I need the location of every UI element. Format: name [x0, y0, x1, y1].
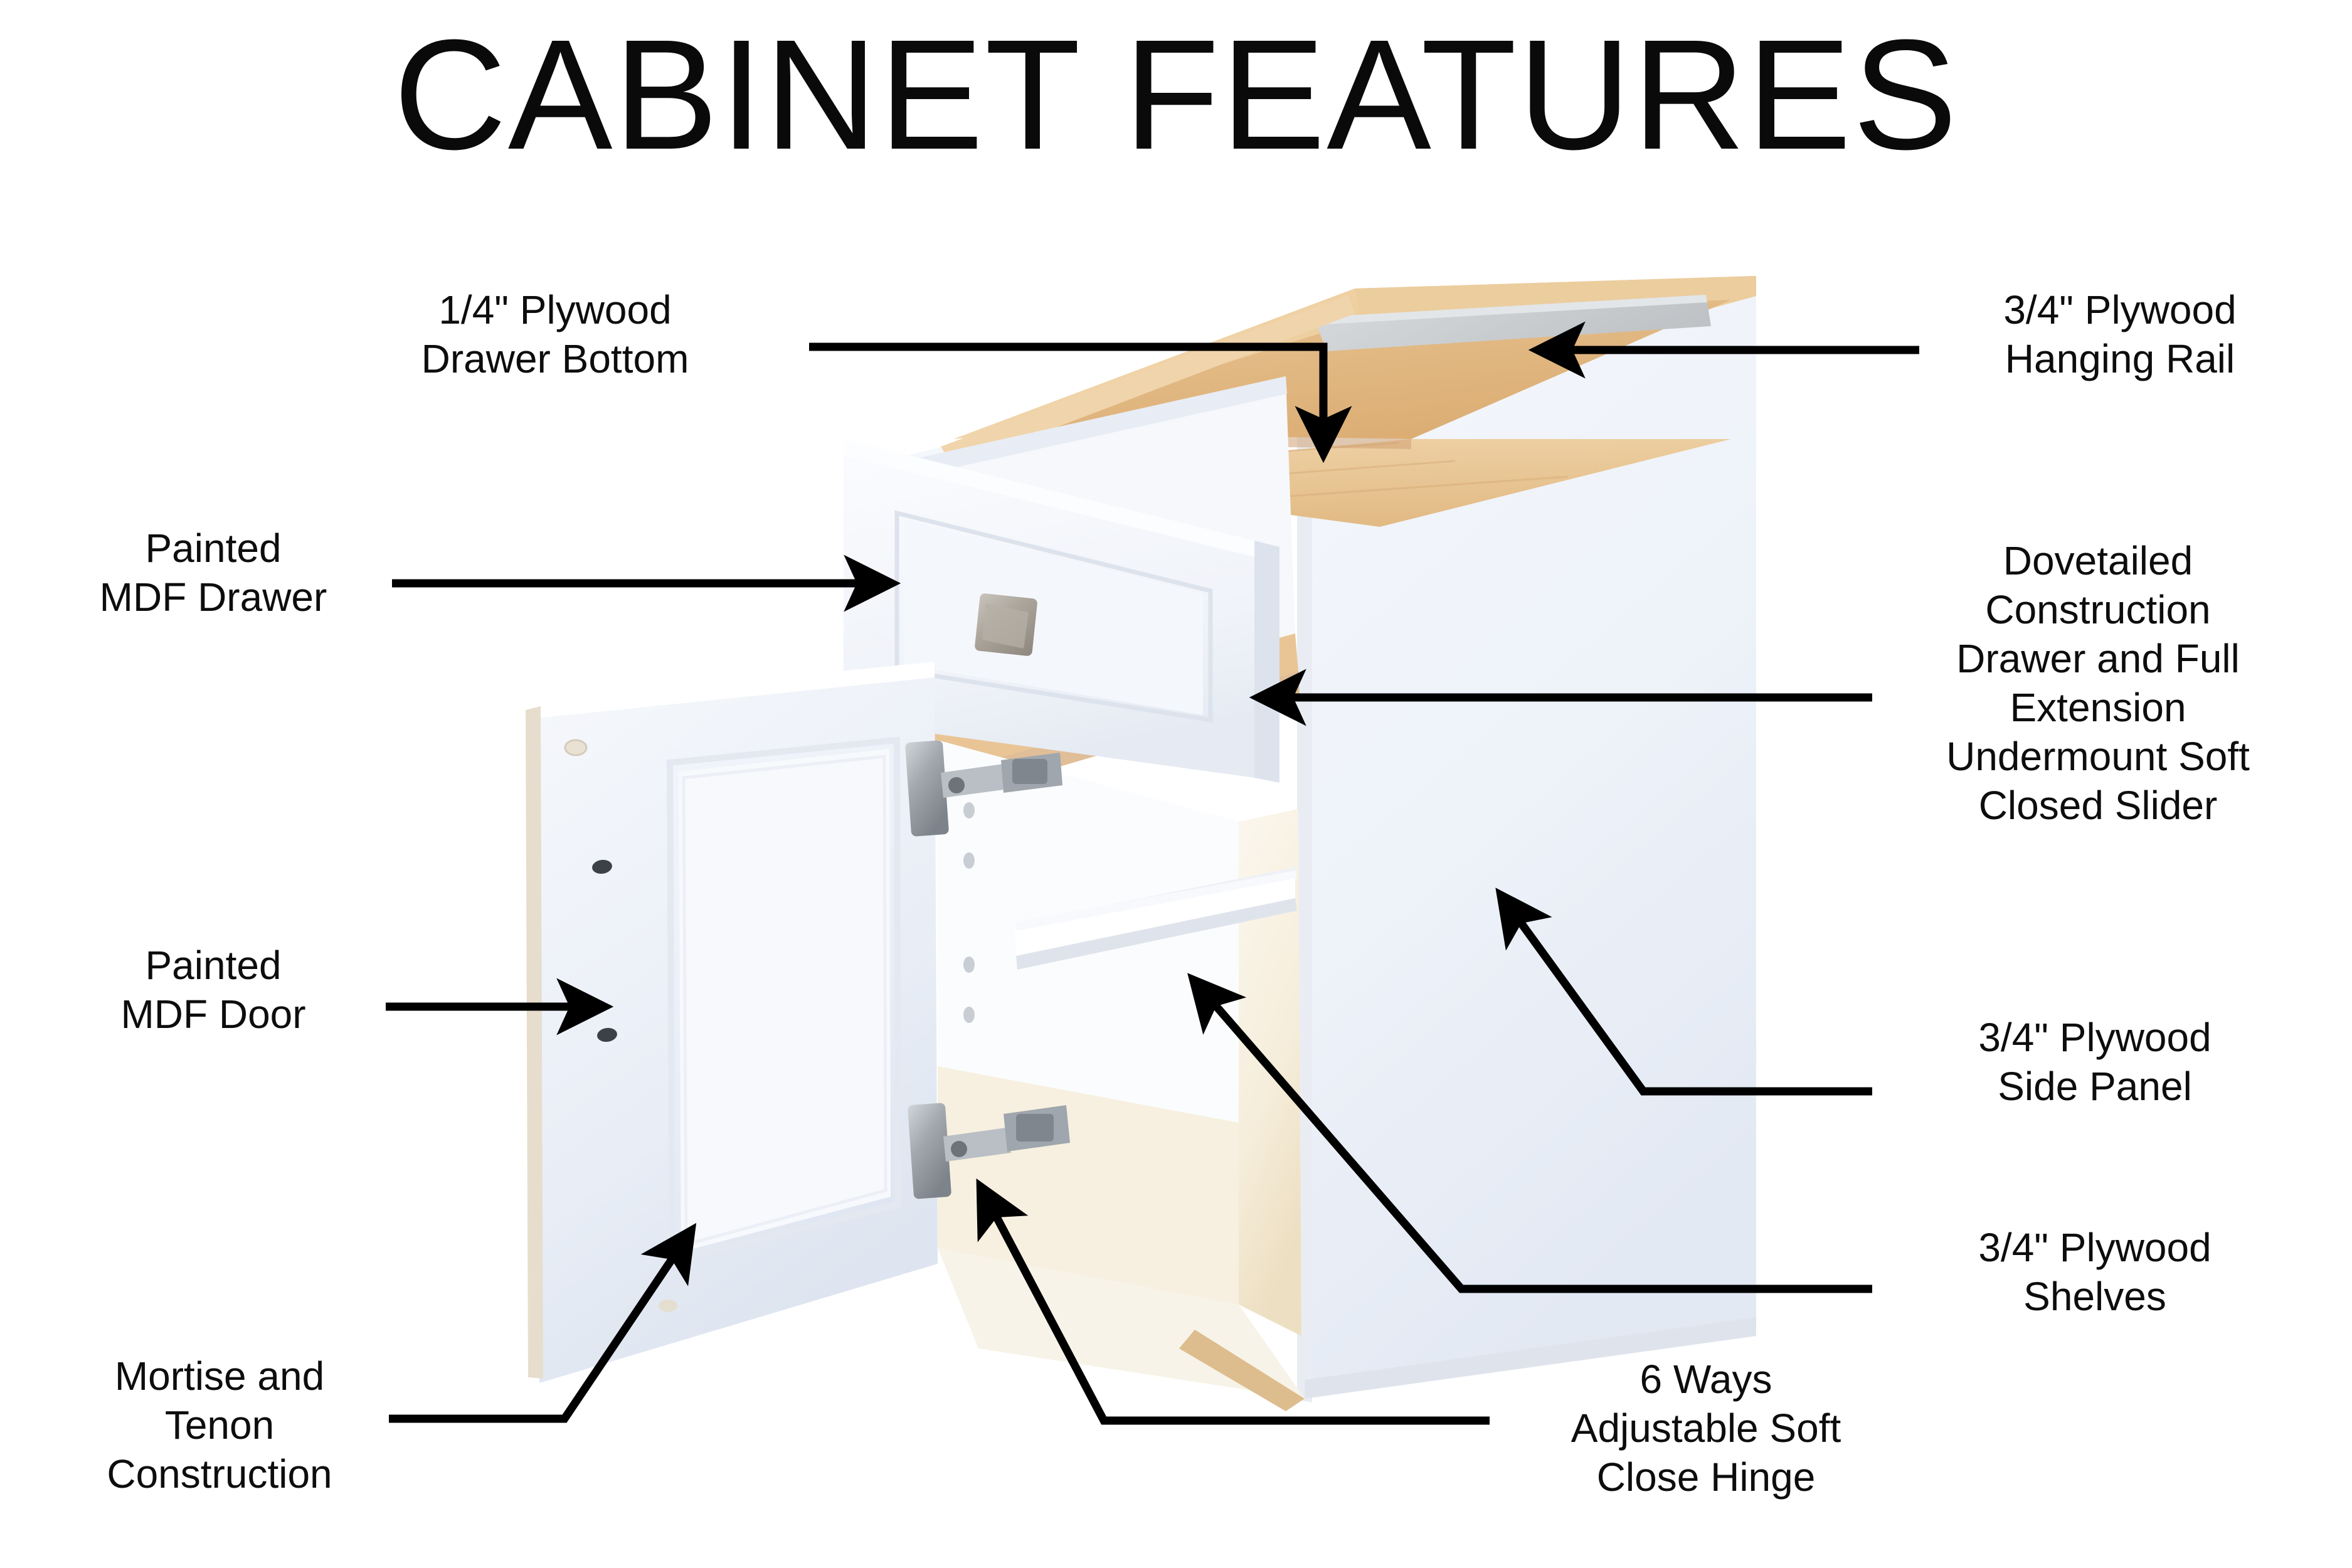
cabinet-features-infographic: CABINET FEATURES [0, 0, 2352, 1568]
callout-plywood-shelves: 3/4" Plywood Shelves [1894, 1223, 2296, 1321]
callout-plywood-hanging-rail: 3/4" Plywood Hanging Rail [1919, 285, 2321, 383]
callout-painted-mdf-drawer: Painted MDF Drawer [38, 524, 389, 622]
drawer-knob [974, 593, 1037, 656]
callout-plywood-side-panel: 3/4" Plywood Side Panel [1894, 1013, 2296, 1111]
callout-mortise-and-tenon: Mortise and Tenon Construction [38, 1352, 401, 1498]
callout-dovetailed-construction: Dovetailed Construction Drawer and Full … [1882, 536, 2314, 830]
callout-plywood-drawer-bottom: 1/4" Plywood Drawer Bottom [351, 285, 759, 383]
callout-painted-mdf-door: Painted MDF Door [38, 941, 389, 1039]
cabinet-interior [938, 740, 1301, 1336]
callout-adjustable-soft-close-hinge: 6 Ways Adjustable Soft Close Hinge [1480, 1355, 1932, 1502]
cabinet-door [526, 662, 938, 1383]
